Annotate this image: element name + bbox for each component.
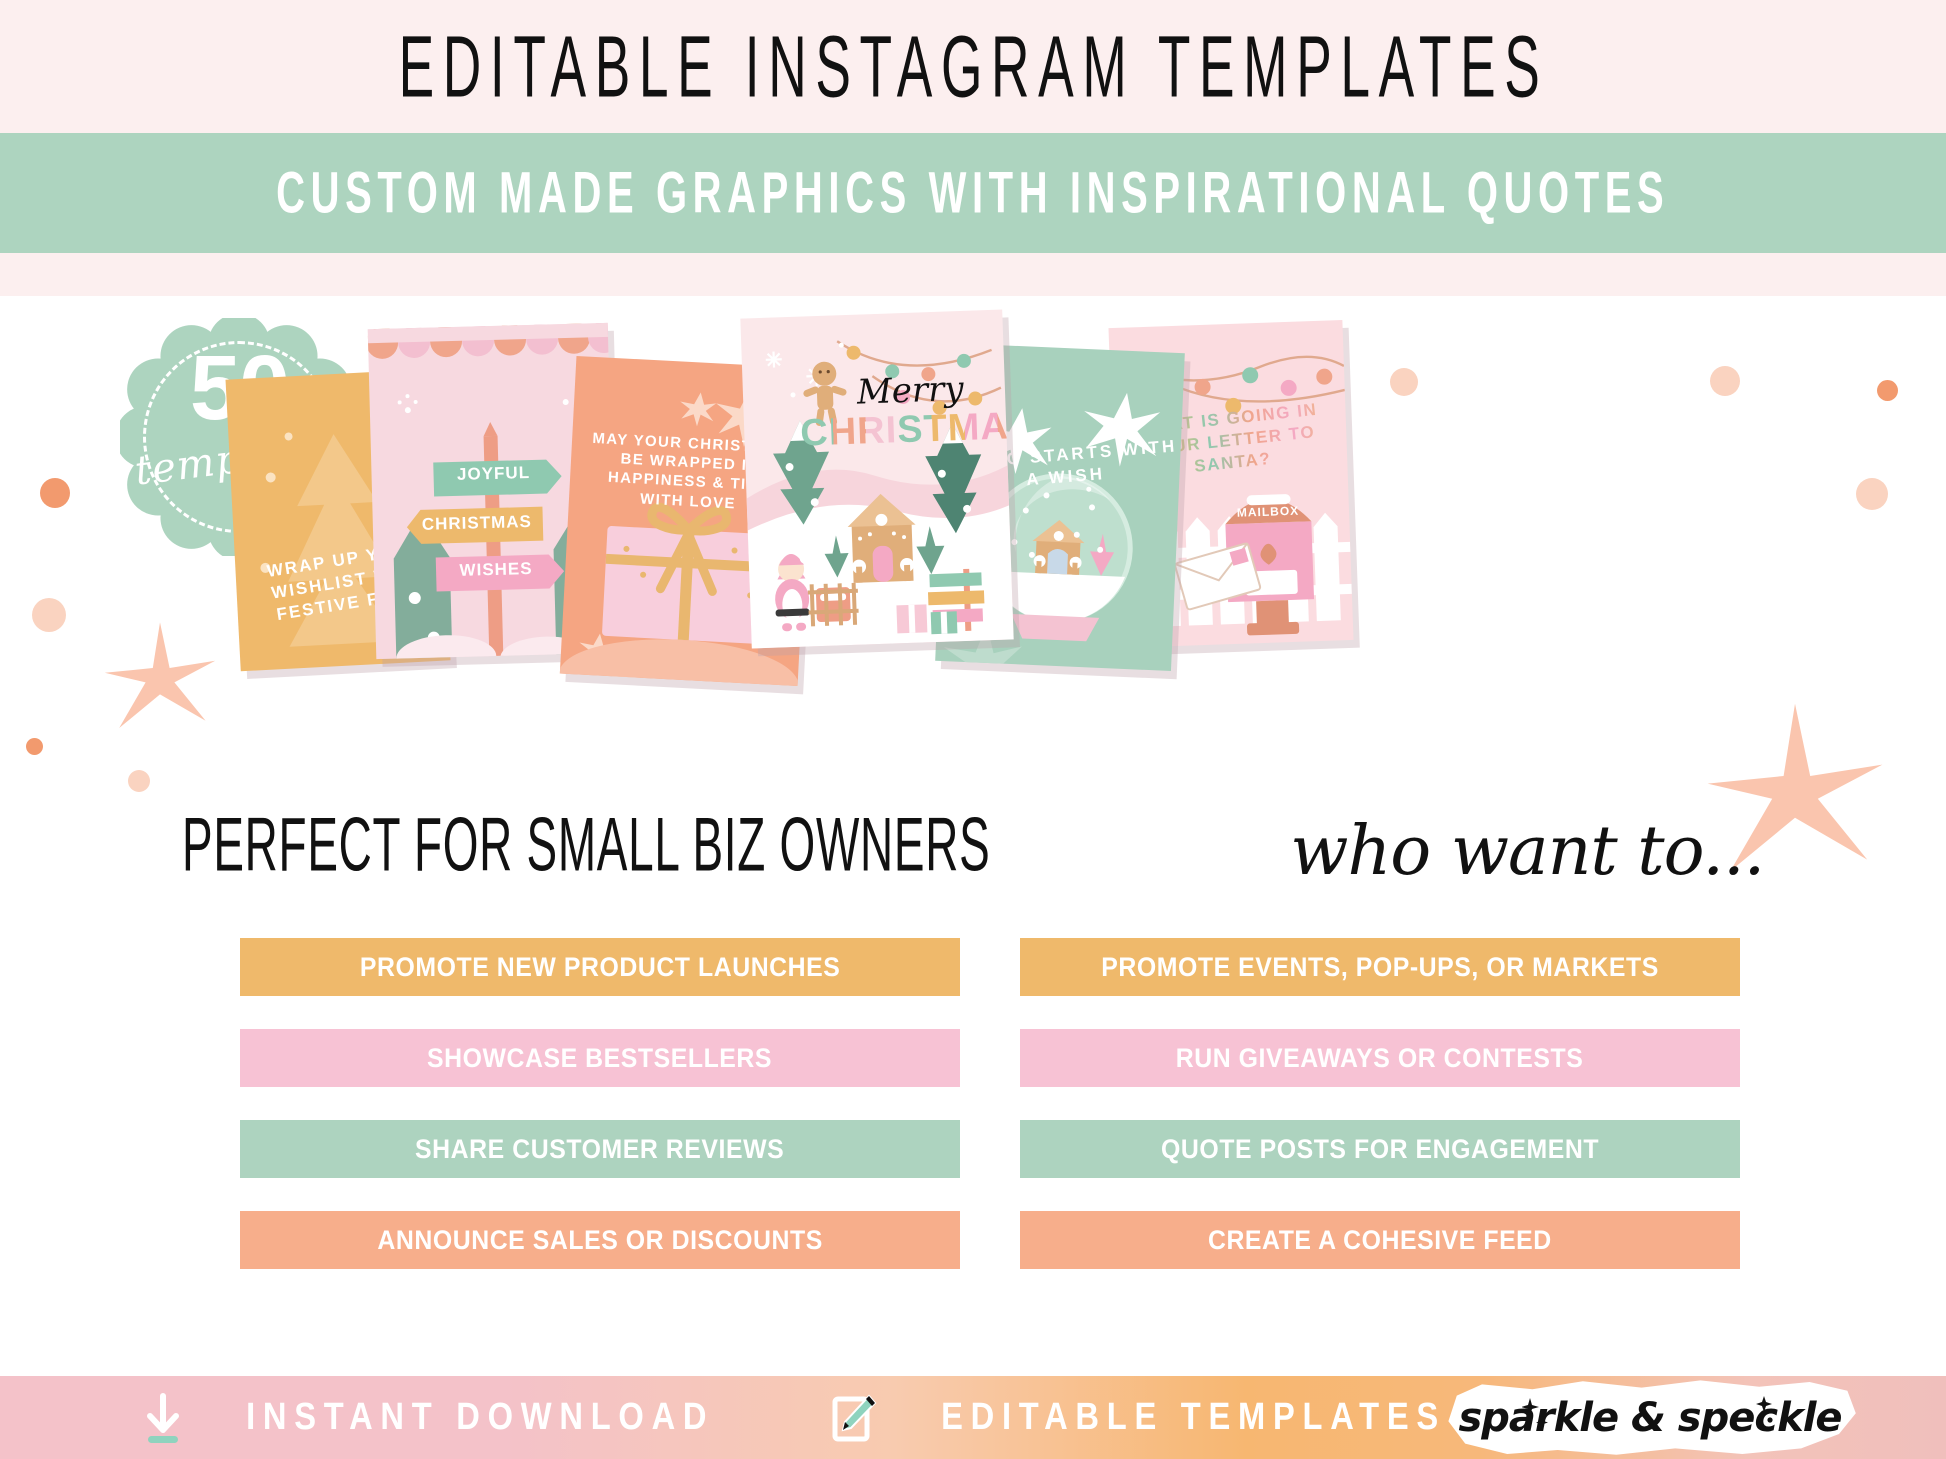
benefit-label: ANNOUNCE SALES OR DISCOUNTS bbox=[377, 1225, 822, 1256]
download-icon bbox=[140, 1392, 186, 1444]
mid-headline-script: who want to... bbox=[1290, 812, 1764, 891]
poster-canvas: EDITABLE INSTAGRAM TEMPLATES CUSTOM MADE… bbox=[0, 0, 1946, 1459]
header-band: EDITABLE INSTAGRAM TEMPLATES bbox=[0, 0, 1946, 133]
benefits-column-right: PROMOTE EVENTS, POP-UPS, OR MARKETS RUN … bbox=[1020, 938, 1740, 1302]
template-card-merry-block: CHRISTMAS bbox=[800, 404, 1014, 455]
benefits-column-left: PROMOTE NEW PRODUCT LAUNCHES SHOWCASE BE… bbox=[240, 938, 990, 1302]
editable-templates-label: EDITABLE TEMPLATES bbox=[941, 1396, 1446, 1439]
sign-label-joyful: JOYFUL bbox=[433, 461, 554, 486]
instant-download-label: INSTANT DOWNLOAD bbox=[246, 1396, 714, 1439]
benefit-bar[interactable]: PROMOTE NEW PRODUCT LAUNCHES bbox=[240, 938, 960, 996]
instant-download-item: INSTANT DOWNLOAD bbox=[140, 1392, 752, 1444]
brand-name: sparkle & speckle bbox=[1458, 1395, 1841, 1441]
benefit-label: PROMOTE NEW PRODUCT LAUNCHES bbox=[360, 952, 841, 983]
benefit-label: CREATE A COHESIVE FEED bbox=[1208, 1225, 1552, 1256]
benefit-bar[interactable]: SHOWCASE BESTSELLERS bbox=[240, 1029, 960, 1087]
mid-headline-primary: PERFECT FOR SMALL BIZ OWNERS bbox=[182, 802, 990, 889]
benefit-bar[interactable]: RUN GIVEAWAYS OR CONTESTS bbox=[1020, 1029, 1740, 1087]
page-title: EDITABLE INSTAGRAM TEMPLATES bbox=[398, 16, 1548, 116]
page-subtitle: CUSTOM MADE GRAPHICS WITH INSPIRATIONAL … bbox=[276, 159, 1669, 226]
benefit-bar[interactable]: CREATE A COHESIVE FEED bbox=[1020, 1211, 1740, 1269]
brand-logo: sparkle & speckle bbox=[1440, 1376, 1860, 1459]
accent-band bbox=[0, 253, 1946, 296]
benefit-label: RUN GIVEAWAYS OR CONTESTS bbox=[1176, 1043, 1584, 1074]
benefit-label: SHARE CUSTOMER REVIEWS bbox=[415, 1134, 784, 1165]
mailbox-label: MAILBOX bbox=[1225, 503, 1311, 520]
benefit-label: QUOTE POSTS FOR ENGAGEMENT bbox=[1161, 1134, 1599, 1165]
benefit-label: PROMOTE EVENTS, POP-UPS, OR MARKETS bbox=[1101, 952, 1659, 983]
benefit-bar[interactable]: ANNOUNCE SALES OR DISCOUNTS bbox=[240, 1211, 960, 1269]
decor-dot bbox=[128, 770, 150, 792]
editable-templates-item: EDITABLE TEMPLATES bbox=[830, 1392, 1487, 1444]
template-card-merry[interactable]: Merry CHRISTMAS bbox=[740, 310, 1013, 649]
mid-headline: PERFECT FOR SMALL BIZ OWNERS who want to… bbox=[0, 812, 1946, 891]
benefits-grid: PROMOTE NEW PRODUCT LAUNCHES SHOWCASE BE… bbox=[240, 938, 1710, 1302]
template-card-merry-script: Merry bbox=[856, 369, 964, 413]
benefit-label: SHOWCASE BESTSELLERS bbox=[427, 1043, 772, 1074]
sign-label-christmas: CHRISTMAS bbox=[411, 511, 544, 536]
sign-label-wishes: WISHES bbox=[436, 557, 557, 582]
template-card-fan: WRAP UP YOUR WISHLIST WITH FESTIVE FLAIR bbox=[0, 296, 1946, 656]
benefit-bar[interactable]: PROMOTE EVENTS, POP-UPS, OR MARKETS bbox=[1020, 938, 1740, 996]
decor-dot bbox=[26, 738, 43, 755]
edit-pencil-icon bbox=[830, 1392, 878, 1444]
subtitle-band: CUSTOM MADE GRAPHICS WITH INSPIRATIONAL … bbox=[0, 133, 1946, 253]
benefit-bar[interactable]: SHARE CUSTOMER REVIEWS bbox=[240, 1120, 960, 1178]
benefit-bar[interactable]: QUOTE POSTS FOR ENGAGEMENT bbox=[1020, 1120, 1740, 1178]
